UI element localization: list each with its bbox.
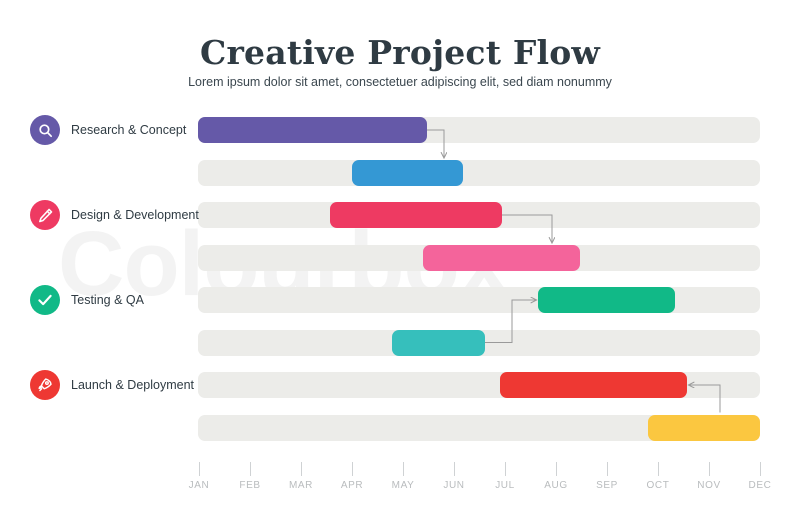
axis-tick — [709, 462, 710, 476]
axis-tick — [403, 462, 404, 476]
gantt-bar[interactable] — [392, 330, 485, 356]
task-research[interactable]: Research & Concept — [30, 115, 186, 145]
axis-tick — [556, 462, 557, 476]
task-label: Launch & Deployment — [71, 378, 194, 392]
task-launch[interactable]: Launch & Deployment — [30, 370, 194, 400]
axis-month-label: MAY — [392, 480, 415, 491]
gantt-bar[interactable] — [648, 415, 760, 441]
axis-month-label: JAN — [189, 480, 210, 491]
month-axis: JANFEBMARAPRMAYJUNJULAUGSEPOCTNOVDEC — [0, 462, 800, 502]
task-label: Testing & QA — [71, 293, 144, 307]
magnifier-icon — [30, 115, 60, 145]
axis-month-label: APR — [341, 480, 363, 491]
axis-month-label: SEP — [596, 480, 618, 491]
task-label: Research & Concept — [71, 123, 186, 137]
axis-month-label: JUN — [443, 480, 464, 491]
gantt-bar[interactable] — [538, 287, 675, 313]
axis-tick — [301, 462, 302, 476]
axis-month-label: AUG — [544, 480, 567, 491]
page-title: Creative Project Flow — [0, 33, 800, 72]
task-label: Design & Development — [71, 208, 199, 222]
axis-tick — [199, 462, 200, 476]
axis-month-label: MAR — [289, 480, 313, 491]
axis-tick — [760, 462, 761, 476]
pencil-icon — [30, 200, 60, 230]
gantt-bar[interactable] — [352, 160, 463, 186]
track-row — [198, 160, 760, 186]
check-icon — [30, 285, 60, 315]
gantt-bar[interactable] — [330, 202, 502, 228]
axis-tick — [607, 462, 608, 476]
axis-month-label: NOV — [697, 480, 720, 491]
axis-tick — [250, 462, 251, 476]
axis-month-label: DEC — [749, 480, 772, 491]
task-testing[interactable]: Testing & QA — [30, 285, 144, 315]
page-subtitle: Lorem ipsum dolor sit amet, consectetuer… — [0, 75, 800, 89]
axis-tick — [658, 462, 659, 476]
gantt-bar[interactable] — [423, 245, 580, 271]
axis-month-label: OCT — [647, 480, 670, 491]
rocket-icon — [30, 370, 60, 400]
axis-tick — [454, 462, 455, 476]
gantt-bar[interactable] — [500, 372, 687, 398]
gantt-infographic: Creative Project Flow Lorem ipsum dolor … — [0, 0, 800, 523]
task-design[interactable]: Design & Development — [30, 200, 199, 230]
axis-month-label: JUL — [495, 480, 515, 491]
axis-tick — [505, 462, 506, 476]
axis-month-label: FEB — [239, 480, 260, 491]
track-row — [198, 287, 760, 313]
gantt-bar[interactable] — [198, 117, 427, 143]
axis-tick — [352, 462, 353, 476]
